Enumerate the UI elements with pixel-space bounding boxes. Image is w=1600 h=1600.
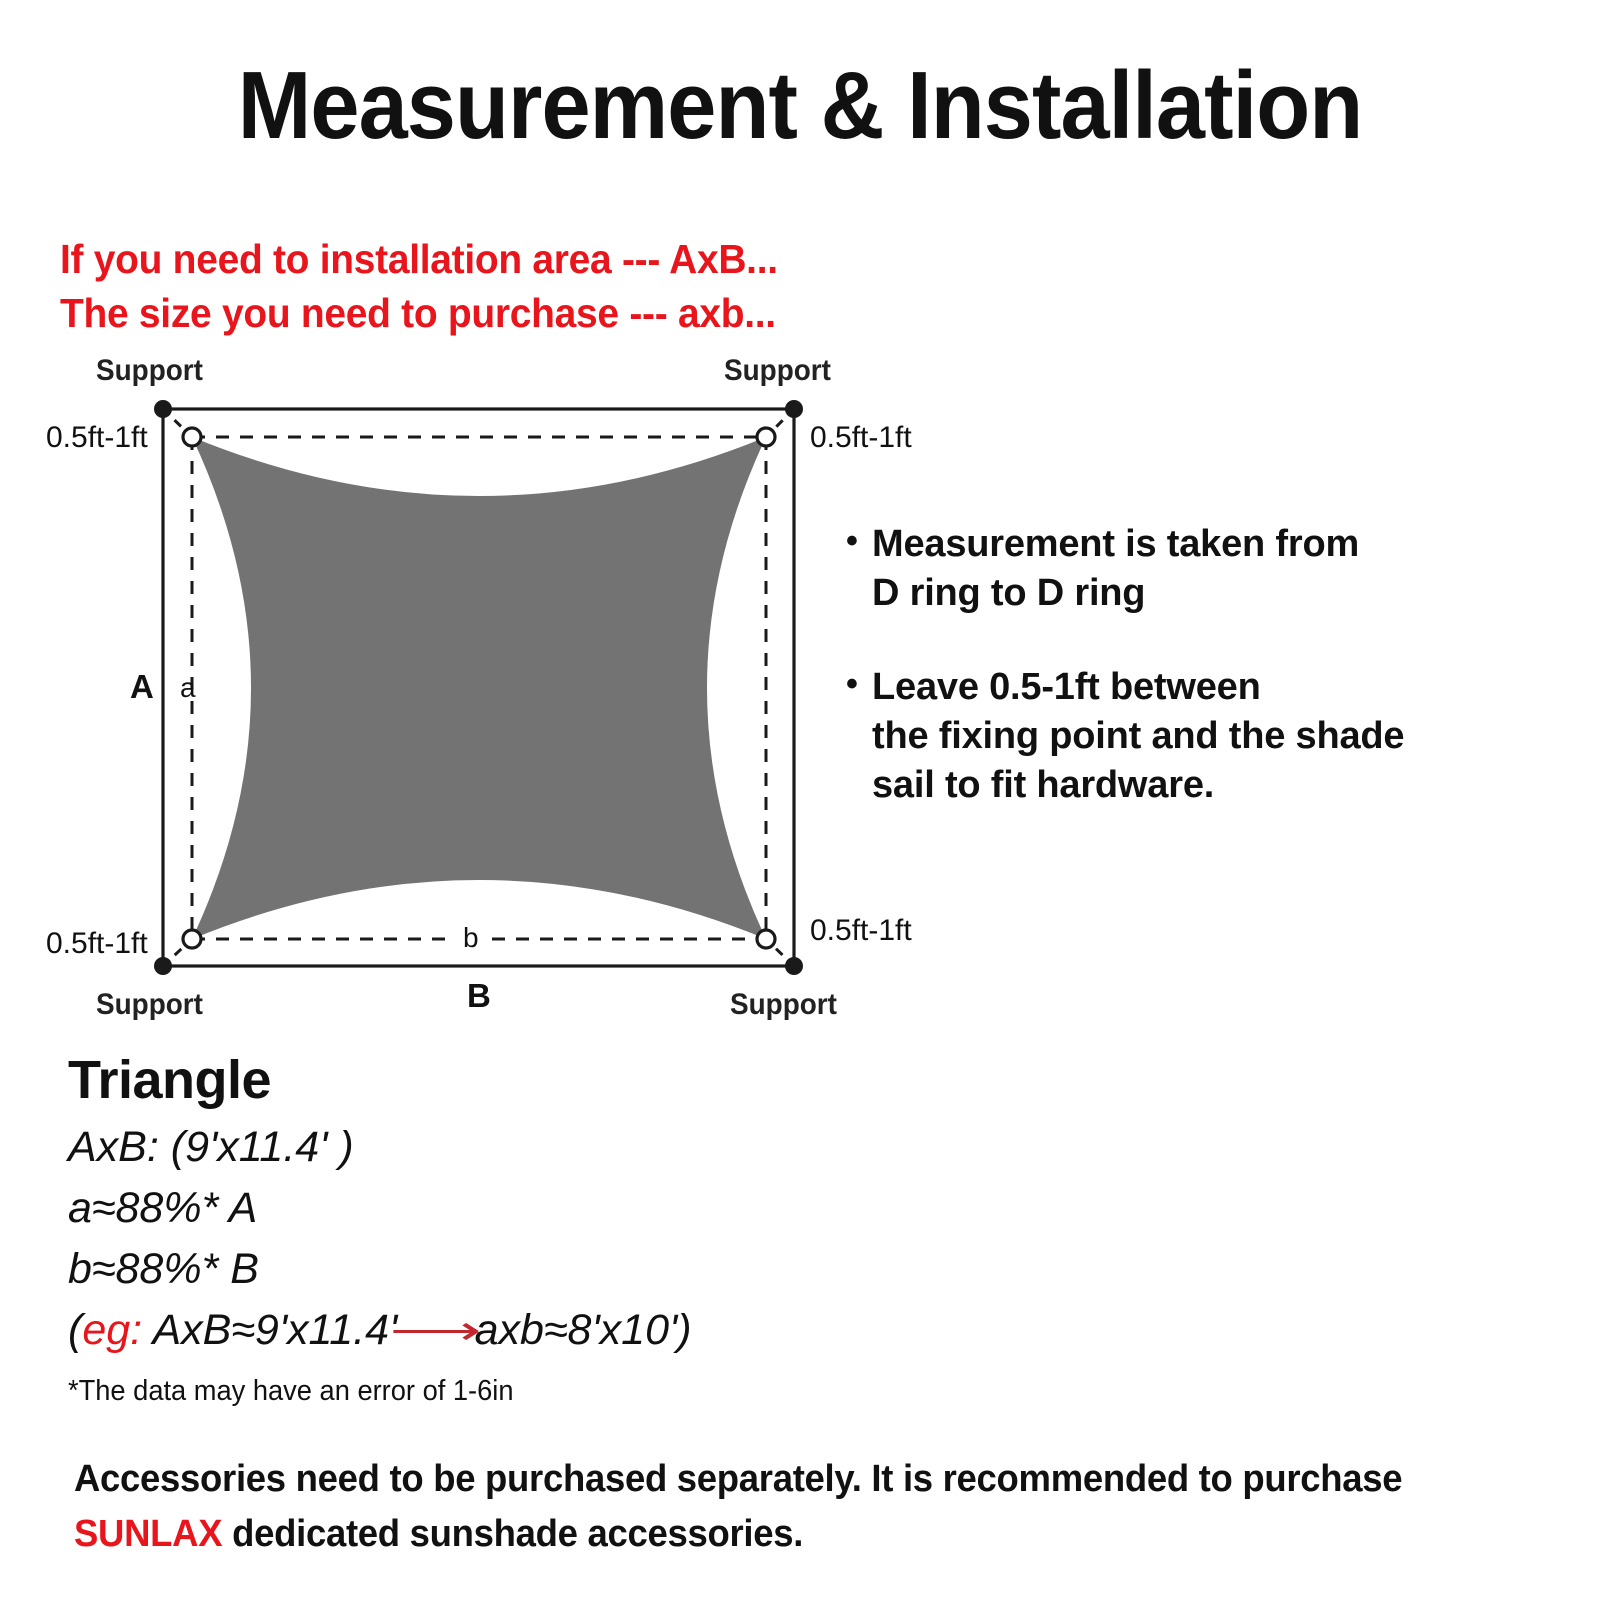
d-ring-bottom-right <box>757 930 775 948</box>
support-point-bottom-left <box>154 957 172 975</box>
example-left-value: AxB≈9'x11.4' <box>142 1306 397 1354</box>
example-open-paren: ( <box>68 1306 82 1354</box>
arrow-right-icon: ⟶ <box>374 1303 498 1360</box>
bullet-2-line-3: sail to fit hardware. <box>872 761 1586 810</box>
intro-line-1: If you need to installation area --- AxB… <box>60 232 778 286</box>
example-eg-label: eg: <box>82 1306 142 1354</box>
error-tolerance-note: *The data may have an error of 1-6in <box>68 1375 914 1408</box>
triangle-heading: Triangle <box>68 1052 968 1109</box>
accessories-note: Accessories need to be purchased separat… <box>74 1452 1514 1562</box>
example-right-value: axb≈8'x10') <box>475 1306 692 1354</box>
list-item: • Leave 0.5-1ft between the fixing point… <box>846 663 1586 809</box>
d-ring-top-left <box>183 428 201 446</box>
support-label-bottom-left: Support <box>96 988 203 1022</box>
intro-note: If you need to installation area --- AxB… <box>60 232 778 340</box>
triangle-sizing-block: Triangle AxB: (9'x11.4' ) a≈88%* A b≈88%… <box>68 1052 968 1408</box>
support-point-bottom-right <box>785 957 803 975</box>
support-label-top-right: Support <box>724 354 831 388</box>
bullet-text: Leave 0.5-1ft between the fixing point a… <box>872 663 1586 809</box>
triangle-example-line: (eg: AxB≈9'x11.4'⟶axb≈8'x10') <box>68 1300 968 1361</box>
bullet-text: Measurement is taken from D ring to D ri… <box>872 520 1586 617</box>
gap-label-top-left: 0.5ft-1ft <box>46 421 148 455</box>
list-item: • Measurement is taken from D ring to D … <box>846 520 1586 617</box>
footer-line-1: Accessories need to be purchased separat… <box>74 1452 1514 1507</box>
dimension-label-B: B <box>467 977 491 1015</box>
support-point-top-right <box>785 400 803 418</box>
triangle-a-formula: a≈88%* A <box>68 1178 968 1239</box>
brand-name: SUNLAX <box>74 1513 222 1555</box>
intro-line-2: The size you need to purchase --- axb... <box>60 286 778 340</box>
triangle-b-formula: b≈88%* B <box>68 1239 968 1300</box>
dimension-label-b: b <box>463 922 479 954</box>
d-ring-bottom-left <box>183 930 201 948</box>
page-title: Measurement & Installation <box>64 56 1536 157</box>
bullet-1-line-1: Measurement is taken from <box>872 520 1586 569</box>
triangle-axb-line: AxB: (9'x11.4' ) <box>68 1117 968 1178</box>
shade-sail-shape <box>192 437 766 939</box>
bullet-2-line-2: the fixing point and the shade <box>872 712 1586 761</box>
footer-line-2-rest: dedicated sunshade accessories. <box>222 1513 803 1555</box>
footer-line-2: SUNLAX dedicated sunshade accessories. <box>74 1507 1514 1562</box>
bullet-dot-icon: • <box>846 663 872 707</box>
bullet-dot-icon: • <box>846 520 872 564</box>
bullet-2-line-1: Leave 0.5-1ft between <box>872 663 1586 712</box>
support-point-top-left <box>154 400 172 418</box>
dimension-label-A: A <box>130 668 154 706</box>
support-label-top-left: Support <box>96 354 203 388</box>
gap-label-bottom-right: 0.5ft-1ft <box>810 914 912 948</box>
d-ring-top-right <box>757 428 775 446</box>
bullet-1-line-2: D ring to D ring <box>872 569 1586 618</box>
support-label-bottom-right: Support <box>730 988 837 1022</box>
gap-label-top-right: 0.5ft-1ft <box>810 421 912 455</box>
notes-list: • Measurement is taken from D ring to D … <box>846 520 1586 855</box>
gap-label-bottom-left: 0.5ft-1ft <box>46 927 148 961</box>
dimension-label-a: a <box>180 672 196 704</box>
